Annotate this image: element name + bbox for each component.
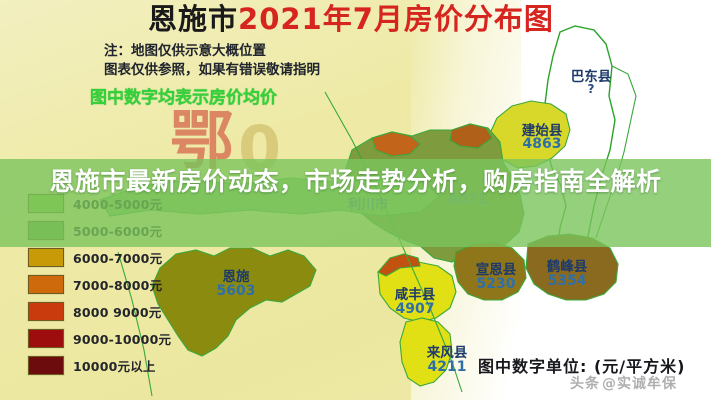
region-value-xuanen: 5230 bbox=[477, 276, 516, 292]
region-label-xianfeng: 咸丰县 bbox=[395, 283, 436, 303]
map-infographic: .prov{stroke:#29a329;stroke-width:1.4;} … bbox=[0, 0, 711, 400]
map-note: 注：地图仅供示意大概位置 图表仅供参照，如果有错误敬请指明 bbox=[104, 42, 404, 80]
region-label-laifeng: 来风县 bbox=[427, 341, 468, 361]
region-value-xianfeng: 4907 bbox=[396, 301, 435, 317]
legend-item: 9000-10000元 bbox=[28, 325, 171, 352]
legend-item: 10000元以上 bbox=[28, 352, 171, 379]
region-value-laifeng: 4211 bbox=[428, 359, 467, 375]
region-value-enshi: 5603 bbox=[217, 283, 256, 299]
page-title-red: 2021年7月房价分布图 bbox=[238, 2, 554, 36]
region-value-badong: ? bbox=[588, 82, 595, 96]
legend-item: 7000-8000元 bbox=[28, 271, 171, 298]
legend-swatch bbox=[28, 302, 64, 321]
legend-swatch bbox=[28, 329, 64, 348]
region-value-hefeng: 5354 bbox=[548, 273, 587, 289]
legend-label: 6000-7000元 bbox=[73, 248, 162, 267]
map-note-line-2: 图表仅供参照，如果有错误敬请指明 bbox=[104, 61, 404, 80]
region-label-xuanen: 宣恩县 bbox=[476, 258, 517, 278]
region-value-jianshi: 4863 bbox=[523, 136, 562, 152]
legend-item: 8000 9000元 bbox=[28, 298, 171, 325]
legend-item: 6000-7000元 bbox=[28, 244, 171, 271]
legend-swatch bbox=[28, 356, 64, 375]
headline-text: 恩施市最新房价动态，市场走势分析，购房指南全解析 bbox=[0, 163, 711, 201]
region-label-enshi: 恩施 bbox=[223, 265, 250, 285]
watermark-handle: @实诚牟保 bbox=[602, 373, 677, 393]
legend-label: 8000 9000元 bbox=[73, 302, 161, 321]
legend-label: 10000元以上 bbox=[73, 356, 156, 375]
legend-label: 9000-10000元 bbox=[73, 329, 171, 348]
page-title: 恩施市2021年7月房价分布图 bbox=[148, 2, 588, 36]
region-label-hefeng: 鹤峰县 bbox=[547, 255, 588, 275]
watermark-source: 头条 bbox=[570, 376, 600, 392]
map-note-line-1: 注：地图仅供示意大概位置 bbox=[104, 42, 404, 61]
legend-label: 7000-8000元 bbox=[73, 275, 162, 294]
legend-swatch bbox=[28, 275, 64, 294]
platform-watermark: 头条@实诚牟保 bbox=[570, 373, 679, 393]
legend-swatch bbox=[28, 248, 64, 267]
page-title-black: 恩施市 bbox=[148, 2, 238, 36]
